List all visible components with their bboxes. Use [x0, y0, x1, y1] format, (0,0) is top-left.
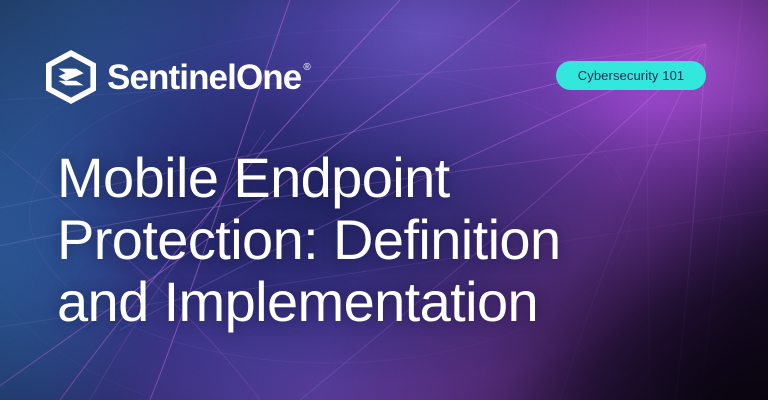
sentinelone-wordmark: SentinelOne — [107, 60, 301, 95]
article-hero-banner: SentinelOne ® Cybersecurity 101 Mobile E… — [0, 0, 768, 400]
banner-content: SentinelOne ® Cybersecurity 101 Mobile E… — [0, 0, 768, 400]
registered-trademark-symbol: ® — [303, 63, 310, 73]
page-title: Mobile Endpoint Protection: Definition a… — [57, 147, 697, 333]
category-badge-label: Cybersecurity 101 — [578, 69, 684, 82]
headline-line-2: Protection: Definition — [57, 209, 697, 271]
sentinelone-hexagon-s-icon — [46, 50, 96, 104]
headline-line-1: Mobile Endpoint — [57, 147, 697, 209]
headline-line-3: and Implementation — [57, 271, 697, 333]
category-badge-cybersecurity-101[interactable]: Cybersecurity 101 — [556, 61, 706, 90]
sentinelone-logo-lockup[interactable]: SentinelOne ® — [46, 50, 311, 104]
sentinelone-wordmark-wrap: SentinelOne ® — [107, 60, 311, 95]
